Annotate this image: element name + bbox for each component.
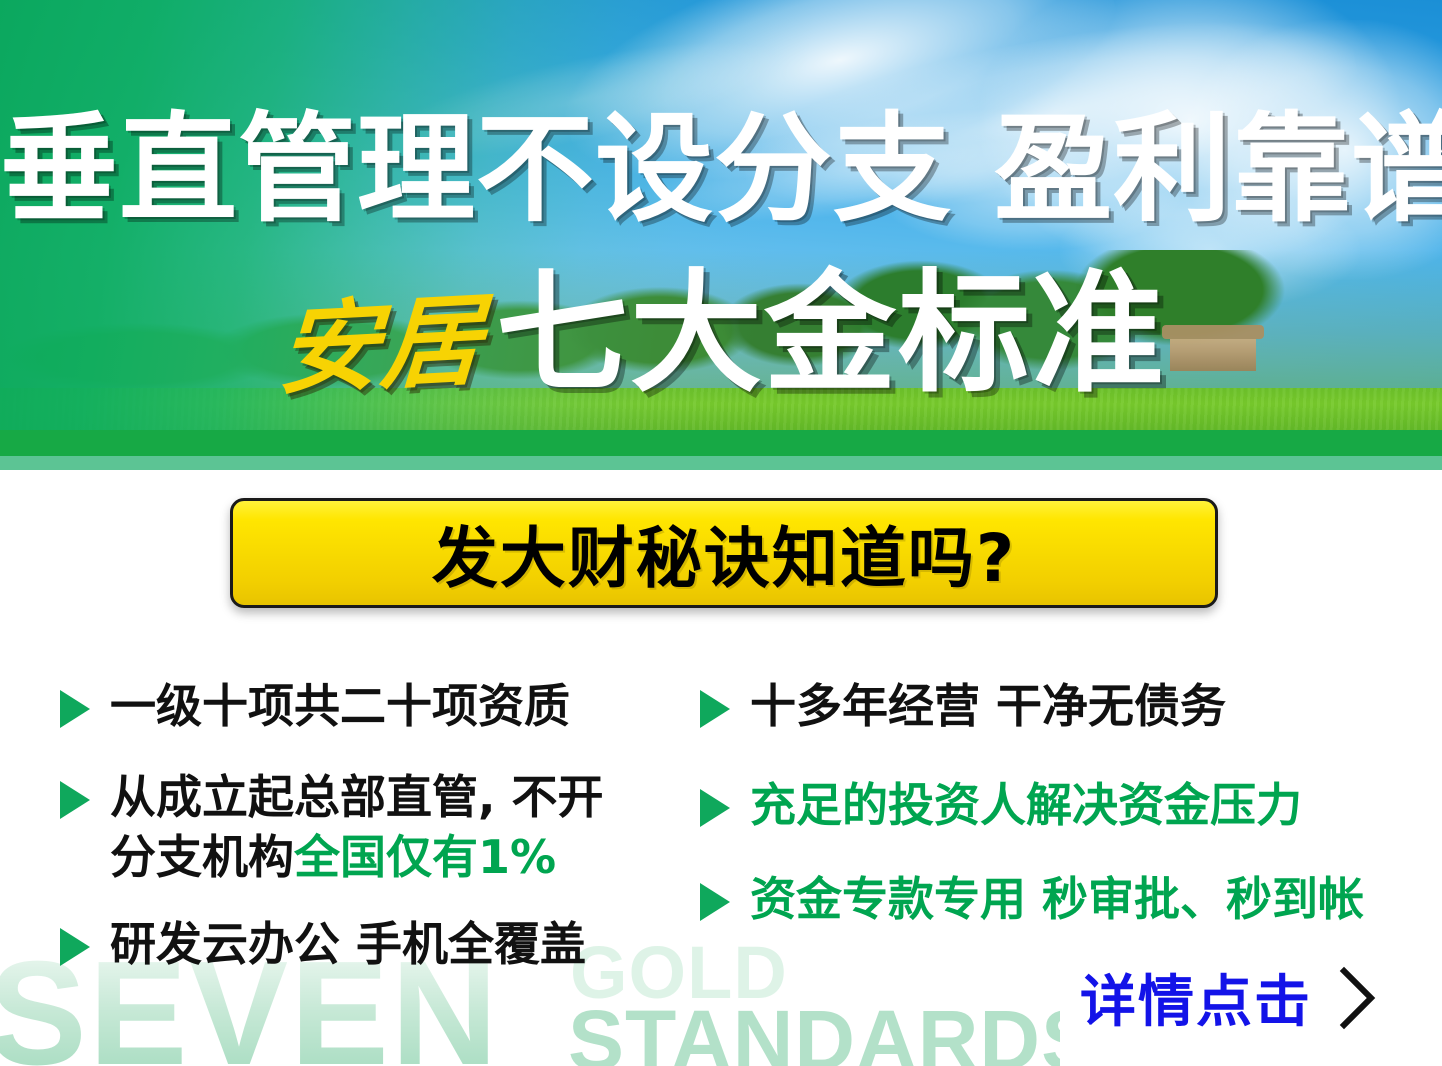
details-link-label: 详情点击 [1080, 957, 1312, 1038]
feature-item-label: 资金专款专用 秒审批、秒到帐 [750, 869, 1364, 930]
headline-cta-label: 发大财秘诀知道吗? [432, 505, 1016, 601]
feature-list-right: 十多年经营 干净无债务 充足的投资人解决资金压力 资金专款专用 秒审批、秒到帐 [700, 676, 1400, 930]
poster-root: 垂直管理不设分支 盈利靠谱 安居七大金标准 发大财秘诀知道吗? SEVEN GO… [0, 0, 1442, 1066]
triangle-bullet-icon [60, 690, 90, 728]
feature-item-label: 十多年经营 干净无债务 [750, 676, 1226, 737]
feature-item-label: 从成立起总部直管, 不开 分支机构全国仅有1% [110, 767, 604, 888]
hero-bottom-green-bar [0, 430, 1442, 456]
feature-item: 一级十项共二十项资质 [60, 676, 700, 737]
triangle-bullet-icon [700, 690, 730, 728]
triangle-bullet-icon [700, 789, 730, 827]
feature-item-line-2: 分支机构全国仅有1% [110, 827, 604, 888]
hero-subline-gold: 安居 [276, 290, 486, 401]
watermark-standards: STANDARDS [568, 998, 1060, 1066]
feature-item-label: 研发云办公 手机全覆盖 [110, 914, 586, 975]
feature-item: 资金专款专用 秒审批、秒到帐 [700, 869, 1400, 930]
feature-item-line-1: 从成立起总部直管, 不开 [110, 767, 604, 828]
hero-subline: 安居七大金标准 [0, 268, 1442, 401]
feature-item: 充足的投资人解决资金压力 [700, 775, 1400, 836]
triangle-bullet-icon [700, 883, 730, 921]
hero-subline-white: 七大金标准 [496, 268, 1166, 400]
triangle-bullet-icon [60, 781, 90, 819]
feature-item: 研发云办公 手机全覆盖 [60, 914, 700, 975]
feature-item: 十多年经营 干净无债务 [700, 676, 1400, 737]
triangle-bullet-icon [60, 928, 90, 966]
hero-bottom-light-bar [0, 456, 1442, 470]
feature-list-left: 一级十项共二十项资质 从成立起总部直管, 不开 分支机构全国仅有1% 研发云办公… [60, 676, 700, 975]
feature-item-line-2-plain: 分支机构 [110, 830, 294, 884]
chevron-right-icon [1336, 965, 1380, 1031]
hero-headline: 垂直管理不设分支 盈利靠谱 [0, 110, 1442, 228]
details-link[interactable]: 详情点击 [1080, 957, 1380, 1038]
feature-item-highlight: 全国仅有1% [294, 830, 556, 884]
feature-item: 从成立起总部直管, 不开 分支机构全国仅有1% [60, 767, 700, 888]
feature-item-label: 充足的投资人解决资金压力 [750, 775, 1302, 836]
feature-item-label: 一级十项共二十项资质 [110, 676, 570, 737]
headline-cta-banner[interactable]: 发大财秘诀知道吗? [230, 498, 1218, 608]
hero-banner: 垂直管理不设分支 盈利靠谱 安居七大金标准 [0, 0, 1442, 470]
